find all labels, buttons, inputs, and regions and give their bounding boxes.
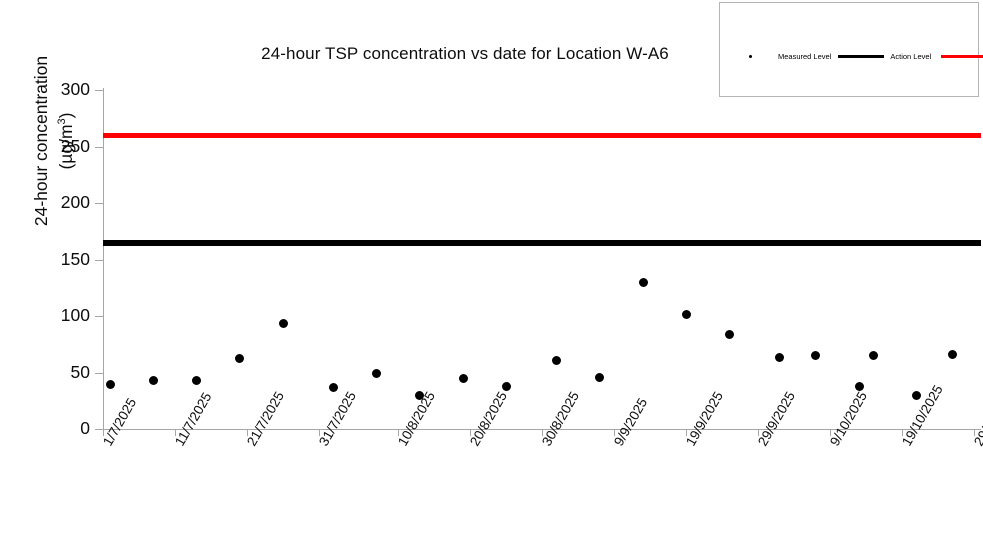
y-axis-tick: [95, 90, 103, 91]
data-point: [372, 369, 381, 378]
legend-line-marker-black-icon: [838, 55, 884, 58]
legend-item-measured-level: Measured Level: [720, 49, 831, 63]
y-axis-tick-label: 250: [32, 136, 90, 157]
data-point: [502, 382, 511, 391]
data-point: [775, 353, 784, 362]
y-axis-tick-label: 50: [32, 362, 90, 383]
data-point: [912, 391, 921, 400]
data-point: [595, 373, 604, 382]
y-axis-tick: [95, 260, 103, 261]
data-point: [192, 376, 201, 385]
data-point: [869, 351, 878, 360]
x-axis-tick-label: 9/10/2025: [827, 389, 870, 449]
data-point: [639, 278, 648, 287]
data-point: [459, 374, 468, 383]
chart-legend: Measured Level Action Level Limit Level: [719, 2, 979, 97]
data-point: [235, 354, 244, 363]
legend-line-marker-red-icon: [941, 55, 983, 58]
x-axis-tick-label: 31/7/2025: [316, 389, 359, 449]
x-axis-tick-label: 29/10/2025: [971, 382, 983, 448]
legend-label-action-level: Action Level: [890, 52, 931, 61]
legend-item-limit-level: Limit Level: [931, 49, 983, 63]
legend-dot-marker-icon: [749, 55, 752, 58]
data-point: [149, 376, 158, 385]
y-axis-tick-label: 100: [32, 305, 90, 326]
x-axis-tick-label: 30/8/2025: [539, 389, 582, 449]
y-axis-tick: [95, 429, 103, 430]
legend-row: Measured Level Action Level Limit Level: [720, 49, 978, 63]
x-axis-tick-label: 19/9/2025: [683, 389, 726, 449]
data-point: [682, 310, 691, 319]
data-point: [552, 356, 561, 365]
data-point: [106, 380, 115, 389]
x-axis-tick-label: 19/10/2025: [899, 382, 946, 448]
y-axis-tick: [95, 373, 103, 374]
data-point: [855, 382, 864, 391]
data-point: [948, 350, 957, 359]
data-point: [279, 319, 288, 328]
y-axis-tick-label: 200: [32, 192, 90, 213]
data-point: [329, 383, 338, 392]
x-axis-tick-label: 11/7/2025: [172, 390, 215, 449]
x-axis-tick-label: 21/7/2025: [244, 389, 287, 449]
y-axis-unit-exponent: 3: [56, 118, 68, 124]
data-point: [811, 351, 820, 360]
limit-level-line: [103, 133, 981, 138]
y-axis-tick: [95, 203, 103, 204]
y-axis-tick-label: 300: [32, 79, 90, 100]
x-axis-tick-label: 1/7/2025: [100, 395, 139, 448]
data-point: [415, 391, 424, 400]
y-axis-unit-suffix: ): [56, 112, 76, 118]
y-axis-tick-label: 150: [32, 249, 90, 270]
y-axis-line: [103, 88, 104, 430]
data-point: [725, 330, 734, 339]
x-axis-tick-label: 29/9/2025: [755, 389, 798, 449]
action-level-line: [103, 240, 981, 246]
y-axis-tick: [95, 316, 103, 317]
legend-label-measured-level: Measured Level: [778, 52, 831, 61]
legend-item-action-level: Action Level: [831, 49, 931, 63]
x-axis-tick-label: 9/9/2025: [611, 395, 650, 448]
chart-container: 24-hour TSP concentration vs date for Lo…: [0, 0, 983, 543]
y-axis-tick: [95, 147, 103, 148]
y-axis-tick-label: 0: [32, 418, 90, 439]
x-axis-tick-label: 20/8/2025: [467, 389, 510, 449]
